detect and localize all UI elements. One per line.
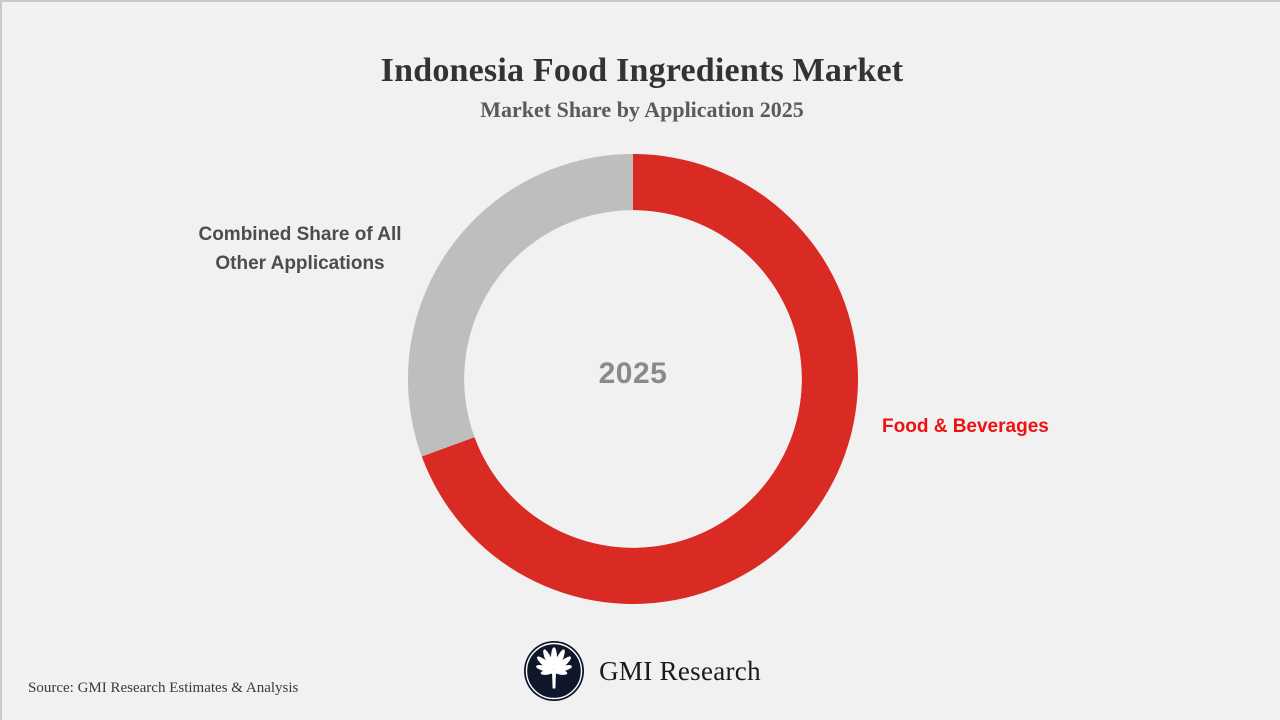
page-subtitle: Market Share by Application 2025 [2,98,1280,122]
label-food-and-beverages: Food & Beverages [882,415,1182,440]
label-other-applications: Combined Share of All Other Applications [152,220,448,279]
page-title: Indonesia Food Ingredients Market [2,52,1280,90]
title-block: Indonesia Food Ingredients Market Market… [2,52,1280,122]
label-other-applications-line1: Combined Share of All [152,220,448,249]
label-other-applications-line2: Other Applications [152,249,448,278]
brand-footer: GMI Research [2,640,1280,702]
donut-center-label: 2025 [408,357,858,391]
gmi-logo-icon [523,640,585,702]
brand-name: GMI Research [599,656,761,687]
chart-slide: Indonesia Food Ingredients Market Market… [0,0,1280,720]
